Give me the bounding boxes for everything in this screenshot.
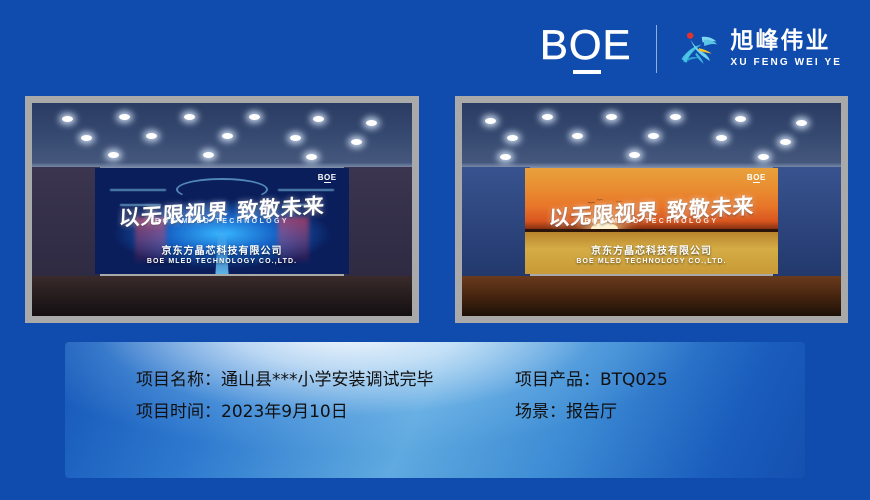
partner-logo: 旭峰伟业 XU FENG WEI YE (675, 26, 842, 72)
ceiling-light (146, 133, 157, 139)
crane-bird-icon (675, 26, 721, 72)
partner-name-block: 旭峰伟业 XU FENG WEI YE (731, 30, 842, 68)
case-card-page: BOE 旭峰伟业 XU FENG WEI YE (0, 0, 870, 500)
side-wall-left (32, 167, 100, 280)
screen-company-en: BOE MLED TECHNOLOGY CO.,LTD. (525, 258, 779, 265)
ceiling-light (716, 135, 727, 141)
ceiling-light (249, 114, 260, 120)
ceiling-light (306, 154, 317, 160)
screen-boe-logo: BOE (318, 173, 337, 182)
led-screen-right: BOE 以无限视界 致敬未来 BOE MLED TECHNOLOGY 京东方晶芯… (525, 168, 779, 275)
ceiling-light (572, 133, 583, 139)
screen-slogan-en: BOE MLED TECHNOLOGY (525, 218, 779, 225)
ceiling-light (108, 152, 119, 158)
ceiling-light (735, 116, 746, 122)
info-project-product: 项目产品：BTQ025 (515, 364, 668, 396)
auditorium-scene-blue: BOE 以无限视界 致敬未来 BOE MLED TECHNOLOGY 京东方晶芯… (32, 103, 412, 316)
ceiling-light (670, 114, 681, 120)
info-column-left: 项目名称：通山县***小学安装调试完毕 项目时间：2023年9月10日 (136, 364, 434, 428)
screen-company-cn: 京东方晶芯科技有限公司 (525, 242, 779, 257)
partner-name-en: XU FENG WEI YE (731, 58, 842, 68)
ceiling-light (542, 114, 553, 120)
ceiling-light (629, 152, 640, 158)
ceiling-light (796, 120, 807, 126)
info-project-date: 项目时间：2023年9月10日 (136, 396, 434, 428)
screen-boe-logo: BOE (747, 173, 766, 182)
ceiling-light (313, 116, 324, 122)
floor (462, 276, 841, 316)
partner-name-cn: 旭峰伟业 (731, 30, 842, 53)
ceiling-light (485, 118, 496, 124)
screen-slogan-en: BOE MLED TECHNOLOGY (95, 218, 350, 225)
info-project-scene: 场景：报告厅 (515, 396, 668, 428)
ceiling-light (119, 114, 130, 120)
boe-logo-underline (573, 70, 601, 74)
info-column-right: 项目产品：BTQ025 场景：报告厅 (515, 364, 668, 428)
screen-glow-line (110, 189, 166, 191)
ceiling-light (203, 152, 214, 158)
project-info-panel: 项目名称：通山县***小学安装调试完毕 项目时间：2023年9月10日 项目产品… (65, 342, 805, 478)
info-project-name: 项目名称：通山县***小学安装调试完毕 (136, 364, 434, 396)
ceiling-light (184, 114, 195, 120)
ceiling-light (62, 116, 73, 122)
ceiling-light (606, 114, 617, 120)
photo-left-image: BOE 以无限视界 致敬未来 BOE MLED TECHNOLOGY 京东方晶芯… (32, 103, 412, 316)
screen-company-cn: 京东方晶芯科技有限公司 (95, 242, 350, 257)
ceiling-light (758, 154, 769, 160)
ceiling-light (222, 133, 233, 139)
photo-right-frame[interactable]: BOE 以无限视界 致敬未来 BOE MLED TECHNOLOGY 京东方晶芯… (455, 96, 848, 323)
side-wall-right (773, 167, 841, 280)
screen-company-en: BOE MLED TECHNOLOGY CO.,LTD. (95, 258, 350, 265)
led-screen-left: BOE 以无限视界 致敬未来 BOE MLED TECHNOLOGY 京东方晶芯… (95, 168, 350, 275)
boe-logo-text: BOE (540, 24, 632, 66)
boe-logo: BOE (540, 24, 656, 74)
side-wall-right (344, 167, 412, 280)
photo-right-image: BOE 以无限视界 致敬未来 BOE MLED TECHNOLOGY 京东方晶芯… (462, 103, 841, 316)
photo-left-frame[interactable]: BOE 以无限视界 致敬未来 BOE MLED TECHNOLOGY 京东方晶芯… (25, 96, 419, 323)
logo-divider (656, 25, 657, 73)
auditorium-scene-sunset: BOE 以无限视界 致敬未来 BOE MLED TECHNOLOGY 京东方晶芯… (462, 103, 841, 316)
floor (32, 276, 412, 316)
logo-bar: BOE 旭峰伟业 XU FENG WEI YE (540, 22, 842, 76)
side-wall-left (462, 167, 530, 280)
ceiling-light (648, 133, 659, 139)
